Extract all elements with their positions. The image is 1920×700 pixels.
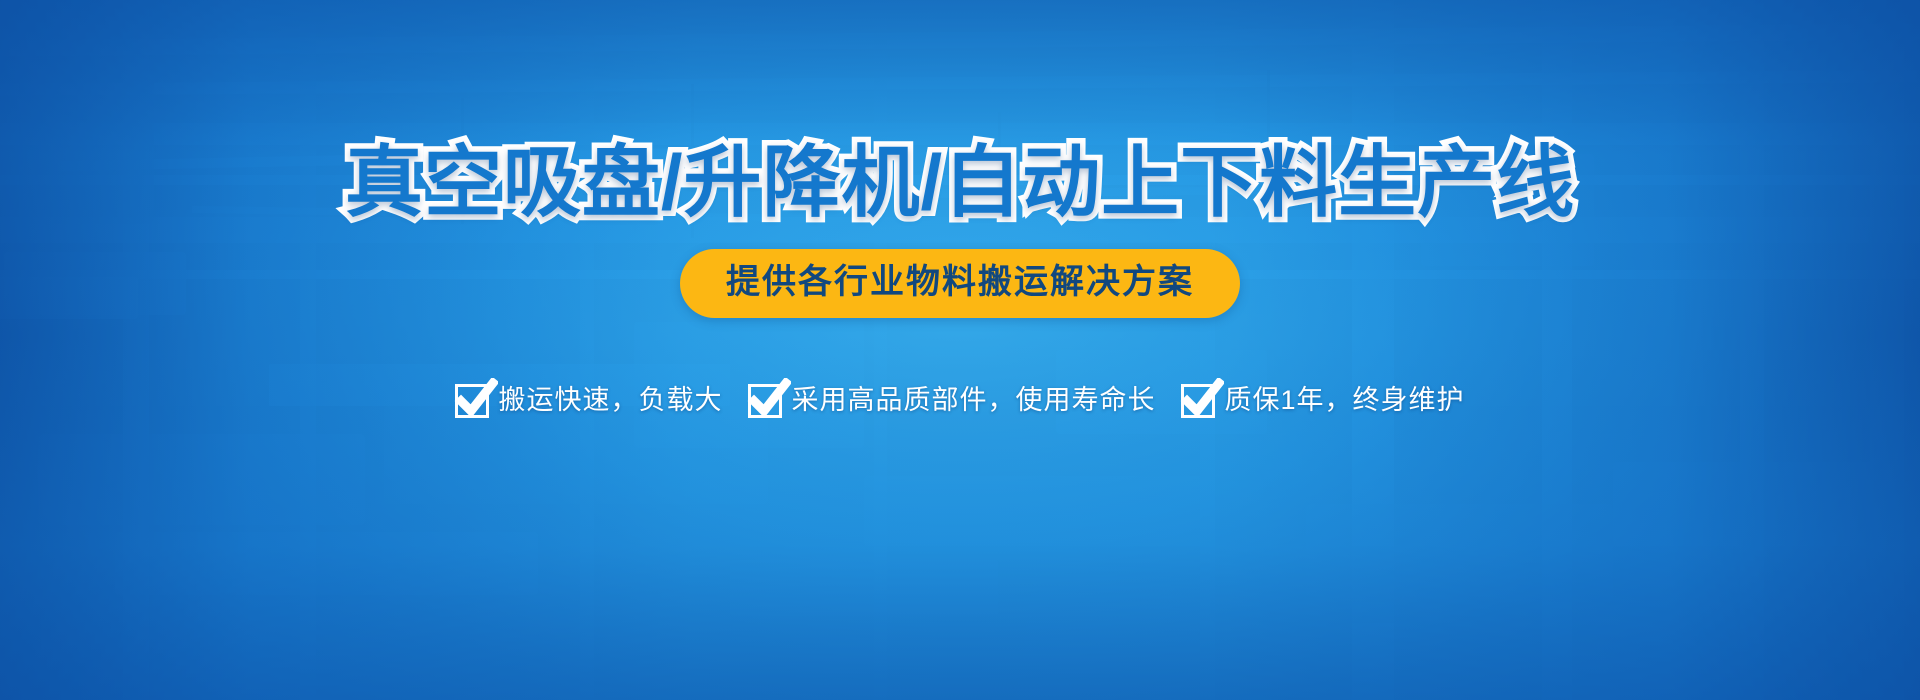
feature-label: 采用高品质部件，使用寿命长	[791, 387, 1155, 414]
hero-banner: 真空吸盘/升降机/自动上下料生产线 提供各行业物料搬运解决方案 搬运快速，负载大	[0, 0, 1920, 700]
feature-item: 搬运快速，负载大	[455, 384, 722, 418]
feature-label: 搬运快速，负载大	[498, 387, 722, 414]
checkmark-box-icon	[748, 384, 782, 418]
checkmark-box-icon	[1181, 384, 1215, 418]
banner-headline: 真空吸盘/升降机/自动上下料生产线	[345, 143, 1575, 221]
subtitle-badge: 提供各行业物料搬运解决方案	[680, 249, 1240, 318]
feature-label: 质保1年，终身维护	[1224, 387, 1464, 414]
subtitle-badge-label: 提供各行业物料搬运解决方案	[726, 261, 1194, 304]
feature-item: 采用高品质部件，使用寿命长	[748, 384, 1155, 418]
feature-list: 搬运快速，负载大 采用高品质部件，使用寿命长 质保1年，终身维护	[455, 384, 1464, 418]
checkmark-box-icon	[455, 384, 489, 418]
feature-item: 质保1年，终身维护	[1181, 384, 1464, 418]
banner-content: 真空吸盘/升降机/自动上下料生产线 提供各行业物料搬运解决方案 搬运快速，负载大	[0, 0, 1920, 700]
